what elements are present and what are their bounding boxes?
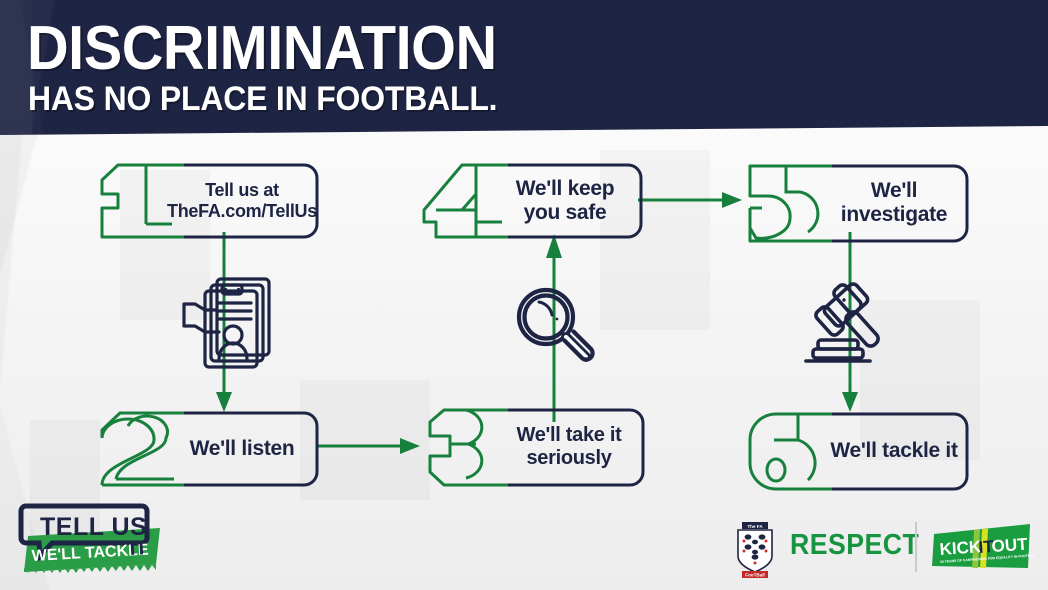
step-card-2[interactable]: We'll listen <box>72 410 320 488</box>
footer-divider <box>915 522 917 572</box>
step-card-1[interactable]: Tell us at TheFA.com/TellUs <box>72 162 320 240</box>
header-banner: DISCRIMINATION HAS NO PLACE IN FOOTBALL. <box>0 0 1048 135</box>
step-1-label: Tell us at TheFA.com/TellUs <box>168 162 316 240</box>
step-6-label: We'll tackle it <box>820 410 968 492</box>
magnifying-glass-icon <box>512 283 598 369</box>
step-2-label: We'll listen <box>172 410 312 488</box>
infographic-poster: DISCRIMINATION HAS NO PLACE IN FOOTBALL. <box>0 0 1048 590</box>
step-card-5[interactable]: We'll investigate <box>728 162 970 244</box>
page-title: DISCRIMINATION <box>27 18 497 80</box>
fa-crest-bottom-text: FooTBall <box>745 573 765 578</box>
tell-us-logo: TELL US WE'LL TACKLE IT <box>18 502 168 578</box>
respect-wordmark: RESPECT <box>790 529 919 562</box>
kick-it-out-logo: KICK IT OUT 30 YEARS OF CAMPAIGNING FOR … <box>930 522 1034 574</box>
step-4-label: We'll keep you safe <box>492 162 638 240</box>
step-5-label: We'll investigate <box>822 162 966 244</box>
fa-crest-top-text: The FA <box>747 524 763 529</box>
page-subtitle: HAS NO PLACE IN FOOTBALL. <box>28 82 497 116</box>
step-card-3[interactable]: We'll take it seriously <box>404 406 646 488</box>
tell-us-line1: TELL US <box>40 513 147 541</box>
step-card-4[interactable]: We'll keep you safe <box>406 162 644 240</box>
report-clipboard-icon <box>176 272 280 372</box>
kio-word3: OUT <box>991 534 1029 555</box>
gavel-icon <box>800 276 900 372</box>
step-card-6[interactable]: We'll tackle it <box>728 410 970 492</box>
tell-us-line2b: IT <box>129 537 148 560</box>
step-3-label: We'll take it seriously <box>496 406 642 488</box>
fa-crest-logo: The FA FooTBall <box>726 520 784 578</box>
kio-word1: KICK <box>939 537 982 559</box>
